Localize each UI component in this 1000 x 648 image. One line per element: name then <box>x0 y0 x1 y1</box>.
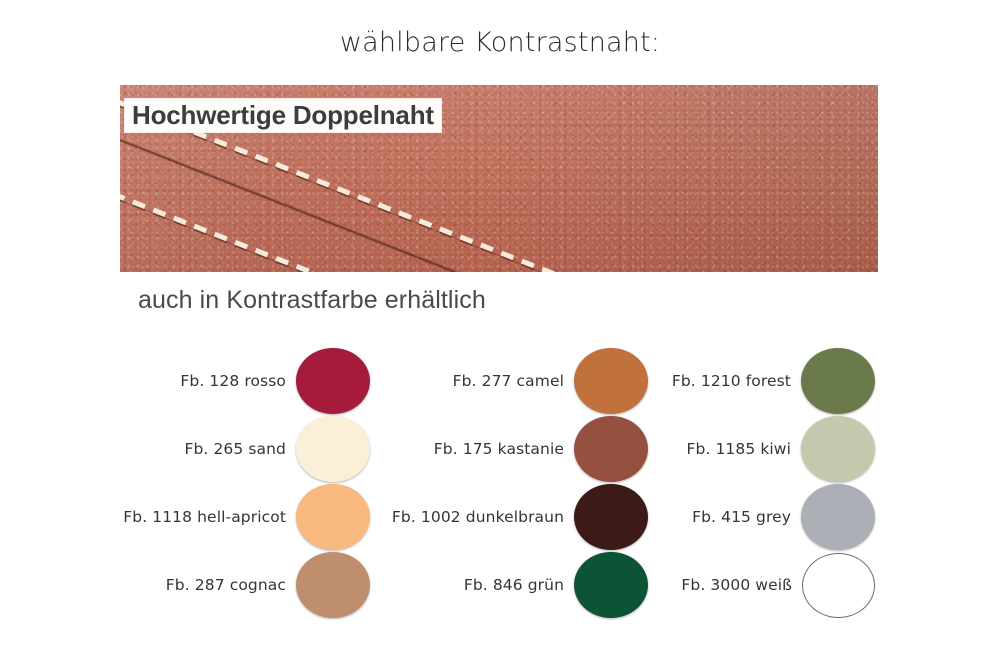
color-swatch-grid: Fb. 128 rossoFb. 265 sandFb. 1118 hell-a… <box>0 347 1000 627</box>
swatch-dot-sand[interactable] <box>296 416 370 482</box>
swatch-row[interactable]: Fb. 175 kastanie <box>398 415 648 483</box>
swatch-label: Fb. 1185 kiwi <box>686 440 801 458</box>
page-title: wählbare Kontrastnaht: <box>0 28 1000 58</box>
swatch-row[interactable]: Fb. 415 grey <box>625 483 875 551</box>
swatch-label: Fb. 3000 weiß <box>681 576 802 594</box>
swatch-label: Fb. 287 cognac <box>166 576 296 594</box>
leather-seam-photo: Hochwertige Doppelnaht <box>120 85 878 272</box>
swatch-row[interactable]: Fb. 846 grün <box>398 551 648 619</box>
swatch-row[interactable]: Fb. 265 sand <box>120 415 370 483</box>
swatch-row[interactable]: Fb. 128 rosso <box>120 347 370 415</box>
swatch-column-2: Fb. 277 camelFb. 175 kastanieFb. 1002 du… <box>398 347 648 619</box>
swatch-row[interactable]: Fb. 1185 kiwi <box>625 415 875 483</box>
swatch-dot-grey[interactable] <box>801 484 875 550</box>
swatch-dot-cognac[interactable] <box>296 552 370 618</box>
swatch-row[interactable]: Fb. 1210 forest <box>625 347 875 415</box>
swatch-dot-forest[interactable] <box>801 348 875 414</box>
swatch-column-3: Fb. 1210 forestFb. 1185 kiwiFb. 415 grey… <box>625 347 875 619</box>
sub-caption: auch in Kontrastfarbe erhältlich <box>138 286 486 315</box>
swatch-dot-rosso[interactable] <box>296 348 370 414</box>
swatch-row[interactable]: Fb. 1002 dunkelbraun <box>398 483 648 551</box>
swatch-dot-hell-apricot[interactable] <box>296 484 370 550</box>
swatch-row[interactable]: Fb. 1118 hell-apricot <box>120 483 370 551</box>
swatch-label: Fb. 415 grey <box>692 508 801 526</box>
swatch-row[interactable]: Fb. 3000 weiß <box>625 551 875 619</box>
swatch-label: Fb. 1002 dunkelbraun <box>392 508 574 526</box>
swatch-label: Fb. 128 rosso <box>180 372 296 390</box>
swatch-label: Fb. 277 camel <box>453 372 574 390</box>
swatch-label: Fb. 1210 forest <box>672 372 801 390</box>
swatch-label: Fb. 175 kastanie <box>434 440 574 458</box>
swatch-column-1: Fb. 128 rossoFb. 265 sandFb. 1118 hell-a… <box>120 347 370 619</box>
swatch-row[interactable]: Fb. 287 cognac <box>120 551 370 619</box>
swatch-row[interactable]: Fb. 277 camel <box>398 347 648 415</box>
swatch-label: Fb. 1118 hell-apricot <box>123 508 296 526</box>
swatch-dot-weiß[interactable] <box>802 553 875 618</box>
swatch-label: Fb. 846 grün <box>464 576 574 594</box>
photo-caption-badge: Hochwertige Doppelnaht <box>125 99 441 132</box>
swatch-label: Fb. 265 sand <box>184 440 296 458</box>
swatch-dot-kiwi[interactable] <box>801 416 875 482</box>
